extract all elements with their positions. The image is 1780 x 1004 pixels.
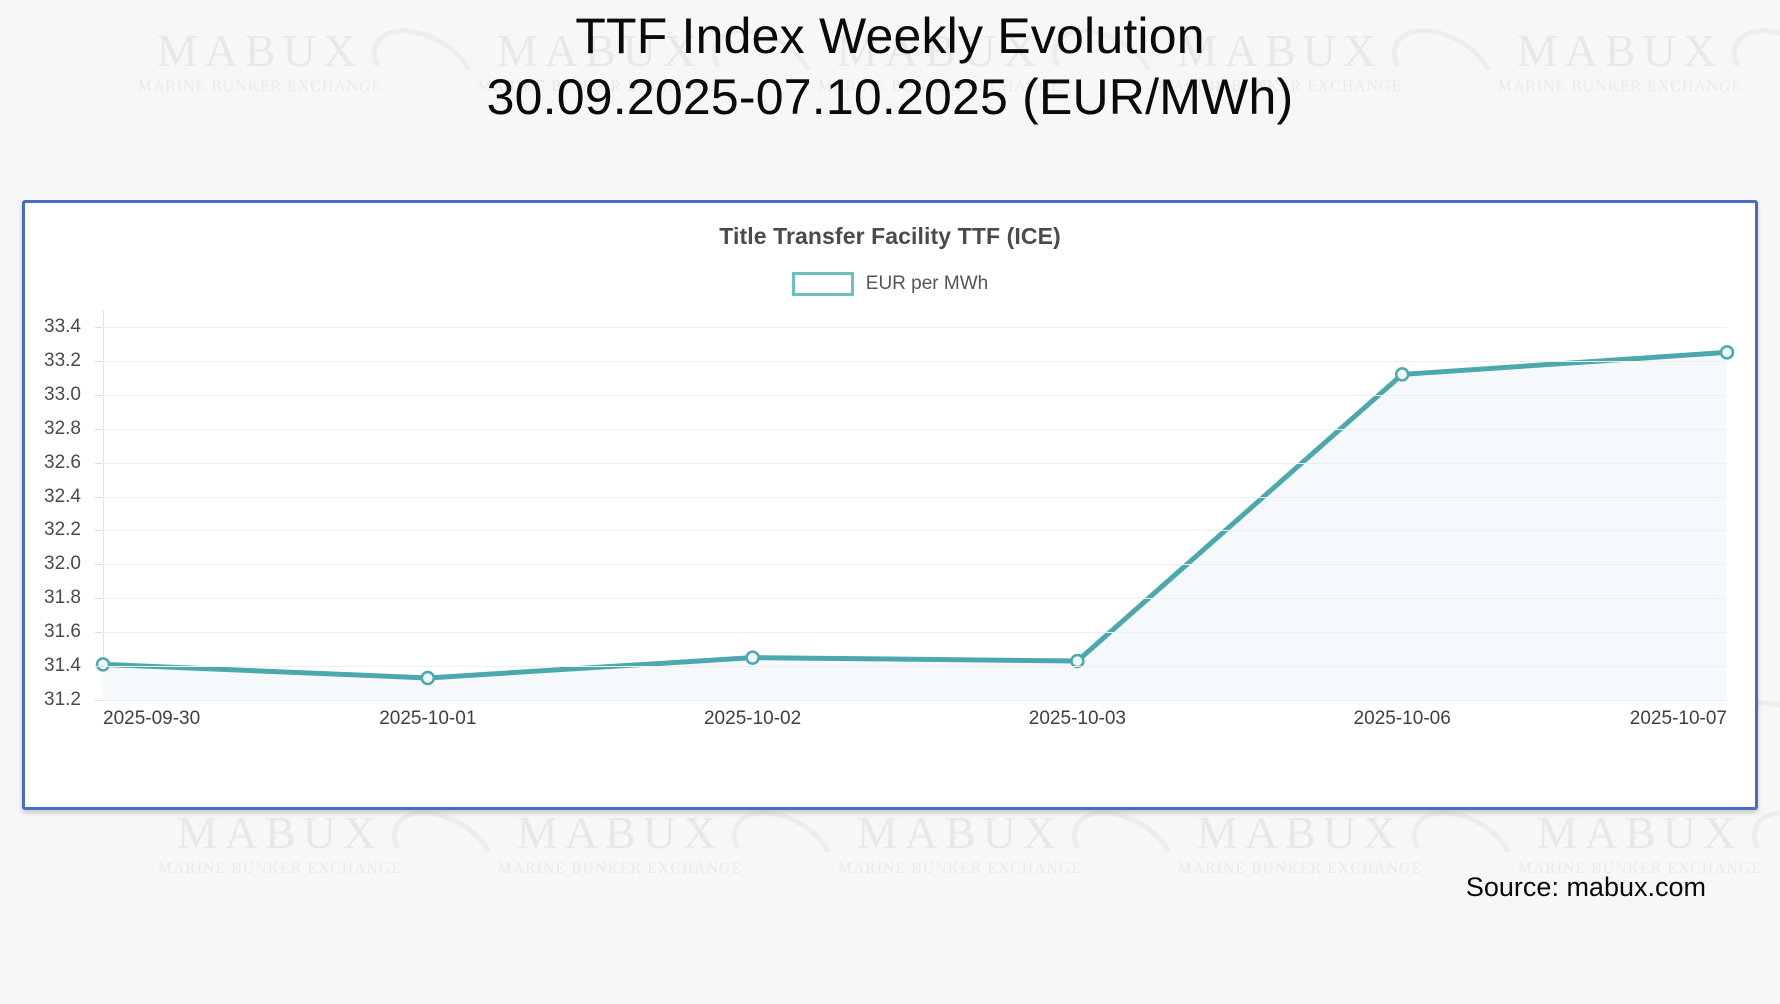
- y-axis-tick-label: 32.4: [23, 486, 81, 508]
- watermark-swoosh-icon: [378, 794, 507, 906]
- y-axis-tick-label: 31.2: [23, 689, 81, 711]
- chart-page: MABUXMARINE BUNKER EXCHANGEMABUXMARINE B…: [0, 0, 1780, 1004]
- y-gridline: [103, 666, 1727, 667]
- y-tick-mark: [95, 429, 103, 430]
- watermark-main-text: MABUX: [790, 810, 1130, 856]
- chart-title: Title Transfer Facility TTF (ICE): [25, 223, 1755, 250]
- y-axis-tick-label: 32.8: [23, 418, 81, 440]
- watermark-mabux: MABUXMARINE BUNKER EXCHANGE: [450, 810, 790, 878]
- y-tick-mark: [95, 700, 103, 701]
- watermark-sub-text: MARINE BUNKER EXCHANGE: [790, 860, 1130, 878]
- watermark-main-text: MABUX: [1470, 810, 1780, 856]
- watermark-main-text: MABUX: [110, 810, 450, 856]
- y-axis-tick-label: 33.4: [23, 316, 81, 338]
- page-title-line-2: 30.09.2025-07.10.2025 (EUR/MWh): [0, 67, 1780, 128]
- series-data-point[interactable]: [422, 672, 434, 684]
- y-tick-mark: [95, 497, 103, 498]
- y-tick-mark: [95, 598, 103, 599]
- y-tick-mark: [95, 564, 103, 565]
- page-title-line-1: TTF Index Weekly Evolution: [0, 6, 1780, 67]
- y-gridline: [103, 632, 1727, 633]
- series-data-point[interactable]: [1721, 346, 1733, 358]
- y-gridline: [103, 564, 1727, 565]
- y-tick-mark: [95, 530, 103, 531]
- y-axis-tick-label: 32.2: [23, 519, 81, 541]
- chart-card: Title Transfer Facility TTF (ICE) EUR pe…: [22, 200, 1758, 810]
- y-axis-tick-label: 33.2: [23, 350, 81, 372]
- x-axis-tick-label: 2025-10-01: [379, 708, 476, 730]
- watermark-main-text: MABUX: [1130, 810, 1470, 856]
- x-axis-tick-label: 2025-10-07: [1630, 708, 1727, 730]
- x-axis-tick-label: 2025-10-06: [1354, 708, 1451, 730]
- source-note: Source: mabux.com: [1466, 872, 1706, 903]
- y-gridline: [103, 361, 1727, 362]
- watermark-mabux: MABUXMARINE BUNKER EXCHANGE: [110, 810, 450, 878]
- y-gridline: [103, 429, 1727, 430]
- series-data-point[interactable]: [97, 658, 109, 670]
- series-data-point[interactable]: [747, 652, 759, 664]
- y-tick-mark: [95, 632, 103, 633]
- y-gridline: [103, 598, 1727, 599]
- y-tick-mark: [95, 666, 103, 667]
- legend-swatch-eur-per-mwh: [792, 272, 854, 296]
- watermark-mabux: MABUXMARINE BUNKER EXCHANGE: [790, 810, 1130, 878]
- watermark-sub-text: MARINE BUNKER EXCHANGE: [450, 860, 790, 878]
- y-gridline: [103, 327, 1727, 328]
- watermark-sub-text: MARINE BUNKER EXCHANGE: [1130, 860, 1470, 878]
- y-axis-tick-label: 33.0: [23, 384, 81, 406]
- plot-canvas: 33.433.233.032.832.632.432.232.031.831.6…: [103, 310, 1727, 700]
- y-axis-tick-label: 31.4: [23, 655, 81, 677]
- x-axis-tick-label: 2025-10-03: [1029, 708, 1126, 730]
- series-area-fill: [103, 352, 1727, 700]
- y-axis-tick-label: 31.8: [23, 587, 81, 609]
- y-gridline: [103, 530, 1727, 531]
- x-axis-tick-label: 2025-09-30: [103, 708, 200, 730]
- y-axis-tick-label: 31.6: [23, 621, 81, 643]
- legend-label-eur-per-mwh: EUR per MWh: [866, 273, 988, 295]
- chart-legend[interactable]: EUR per MWh: [25, 272, 1755, 296]
- watermark-main-text: MABUX: [450, 810, 790, 856]
- plot-area: 33.433.233.032.832.632.432.232.031.831.6…: [39, 310, 1739, 750]
- y-axis-tick-label: 32.0: [23, 553, 81, 575]
- y-gridline: [103, 395, 1727, 396]
- y-tick-mark: [95, 395, 103, 396]
- x-axis-tick-label: 2025-10-02: [704, 708, 801, 730]
- y-gridline: [103, 700, 1727, 701]
- y-gridline: [103, 463, 1727, 464]
- y-gridline: [103, 497, 1727, 498]
- page-title: TTF Index Weekly Evolution 30.09.2025-07…: [0, 6, 1780, 128]
- series-eur-per-mwh: [103, 310, 1727, 700]
- y-tick-mark: [95, 463, 103, 464]
- watermark-sub-text: MARINE BUNKER EXCHANGE: [110, 860, 450, 878]
- y-axis-tick-label: 32.6: [23, 452, 81, 474]
- watermark-mabux: MABUXMARINE BUNKER EXCHANGE: [1130, 810, 1470, 878]
- y-tick-mark: [95, 361, 103, 362]
- watermark-swoosh-icon: [1058, 794, 1187, 906]
- y-tick-mark: [95, 327, 103, 328]
- watermark-mabux: MABUXMARINE BUNKER EXCHANGE: [1470, 810, 1780, 878]
- watermark-swoosh-icon: [1738, 794, 1780, 906]
- watermark-swoosh-icon: [718, 794, 847, 906]
- series-data-point[interactable]: [1396, 368, 1408, 380]
